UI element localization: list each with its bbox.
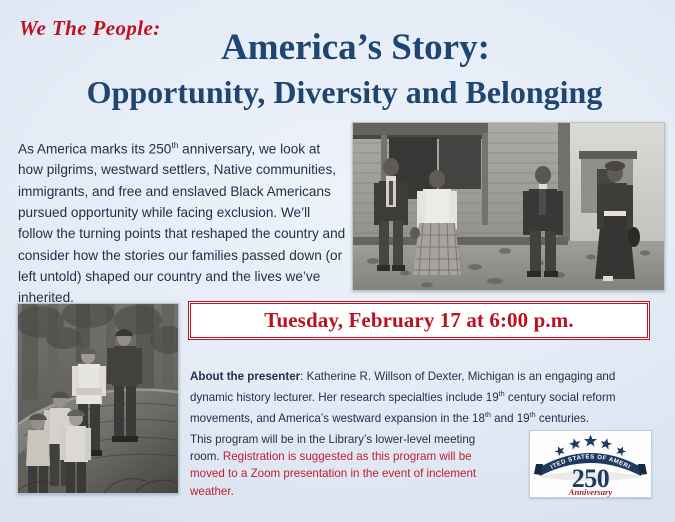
historic-loggers-photo-illustration xyxy=(18,304,178,493)
page-title-line1: America’s Story: xyxy=(0,26,675,70)
page-title-line2: Opportunity, Diversity and Belonging xyxy=(0,73,675,112)
logistics-registration-alert: Registration is suggested as this progra… xyxy=(190,450,476,498)
event-date-banner: Tuesday, February 17 at 6:00 p.m. xyxy=(188,301,650,340)
presenter-label: About the presenter xyxy=(190,370,300,383)
logistics-paragraph: This program will be in the Library’s lo… xyxy=(190,431,490,501)
historic-loggers-on-log-photo xyxy=(17,303,179,494)
poster-canvas: We The People: America’s Story: Opportun… xyxy=(0,0,675,522)
logo-anniversary-script: Anniversary xyxy=(568,487,613,497)
intro-text-after-ordinal: anniversary, we look at how pilgrims, we… xyxy=(18,141,345,305)
event-date-text: Tuesday, February 17 at 6:00 p.m. xyxy=(264,308,573,333)
historic-family-photo-illustration xyxy=(353,123,664,290)
historic-family-outside-house-photo xyxy=(352,122,665,291)
usa-250-logo-illustration: UNITED STATES OF AMERICA 250 Anniversary xyxy=(530,431,651,497)
presenter-paragraph: About the presenter: Katherine R. Willso… xyxy=(190,368,652,428)
intro-paragraph: As America marks its 250th anniversary, … xyxy=(18,135,348,309)
usa-250-anniversary-logo: UNITED STATES OF AMERICA 250 Anniversary xyxy=(529,430,652,498)
presenter-text-c: and 19 xyxy=(491,412,530,425)
presenter-text-d: centuries. xyxy=(536,412,590,425)
intro-text-before-ordinal: As America marks its 250 xyxy=(18,141,171,156)
